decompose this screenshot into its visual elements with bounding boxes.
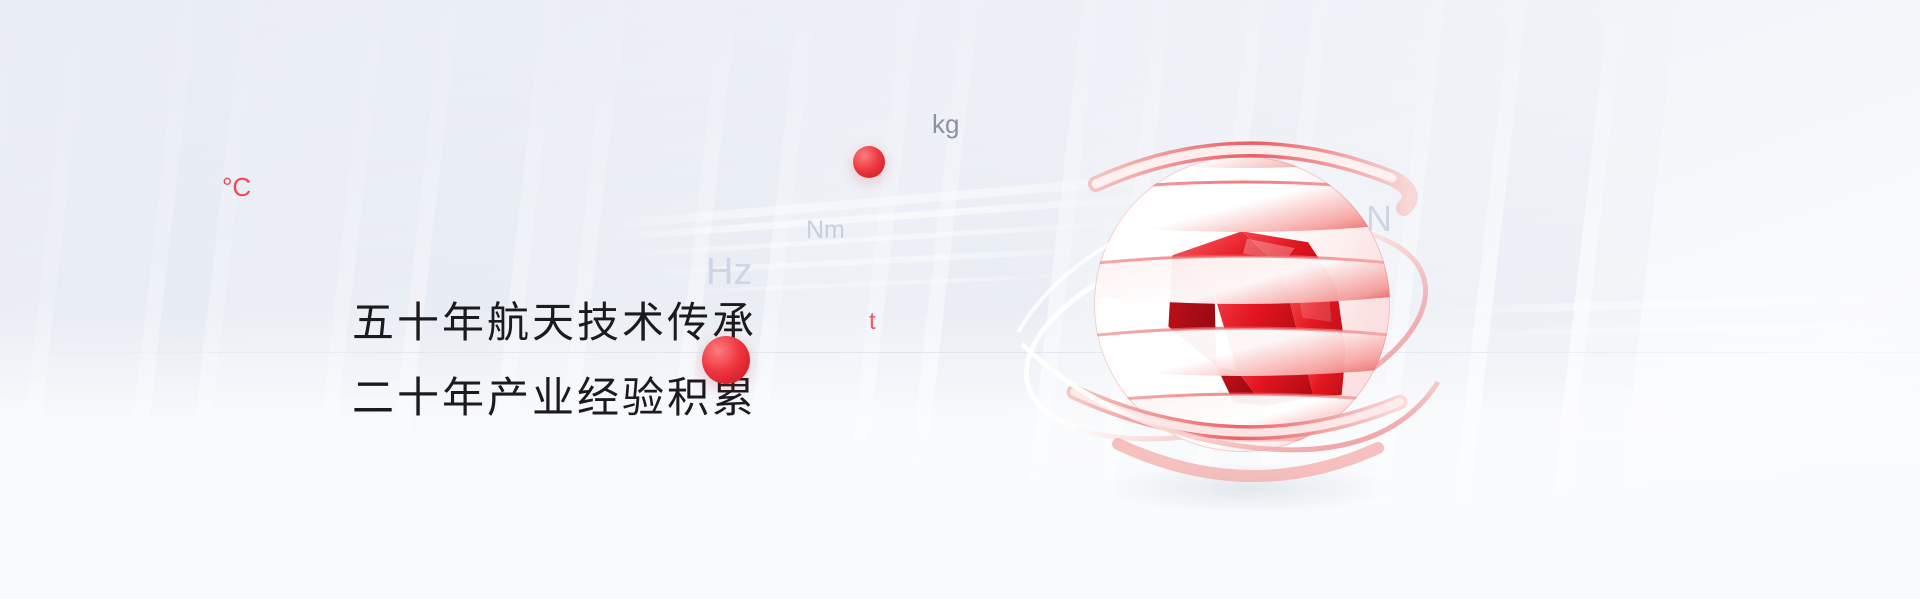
background-column (117, 0, 250, 599)
light-shaft (1430, 293, 1920, 315)
headline-line-2: 二十年产业经验积累 (352, 361, 757, 436)
light-shaft (1460, 321, 1920, 337)
unit-label-tonne: t (869, 308, 876, 336)
background-column (0, 0, 10, 599)
horizon-line (0, 352, 1920, 353)
background-column (735, 0, 910, 599)
background-column (1447, 0, 1616, 599)
unit-label-newton-metre: Nm (806, 216, 845, 245)
page-title: 五十年航天技术传承 二十年产业经验积累 (352, 286, 757, 436)
sensor-sphere-graphic (1000, 96, 1460, 526)
background-column (9, 0, 188, 599)
unit-label-celsius: °C (222, 172, 251, 203)
headline-line-1: 五十年航天技术传承 (352, 286, 757, 361)
background-column (0, 0, 80, 599)
background-column (839, 0, 970, 599)
orb-upper (853, 146, 885, 178)
orb-lower (702, 336, 750, 384)
background-column (1545, 0, 1684, 599)
background-columns (0, 0, 1920, 599)
unit-label-kilogram: kg (932, 109, 959, 140)
floor-wash (0, 309, 1920, 599)
background-column (179, 0, 376, 599)
hero-banner: 五十年航天技术传承 二十年产业经验积累 °CHzNmkgtVNmV/VmA (0, 0, 1920, 599)
